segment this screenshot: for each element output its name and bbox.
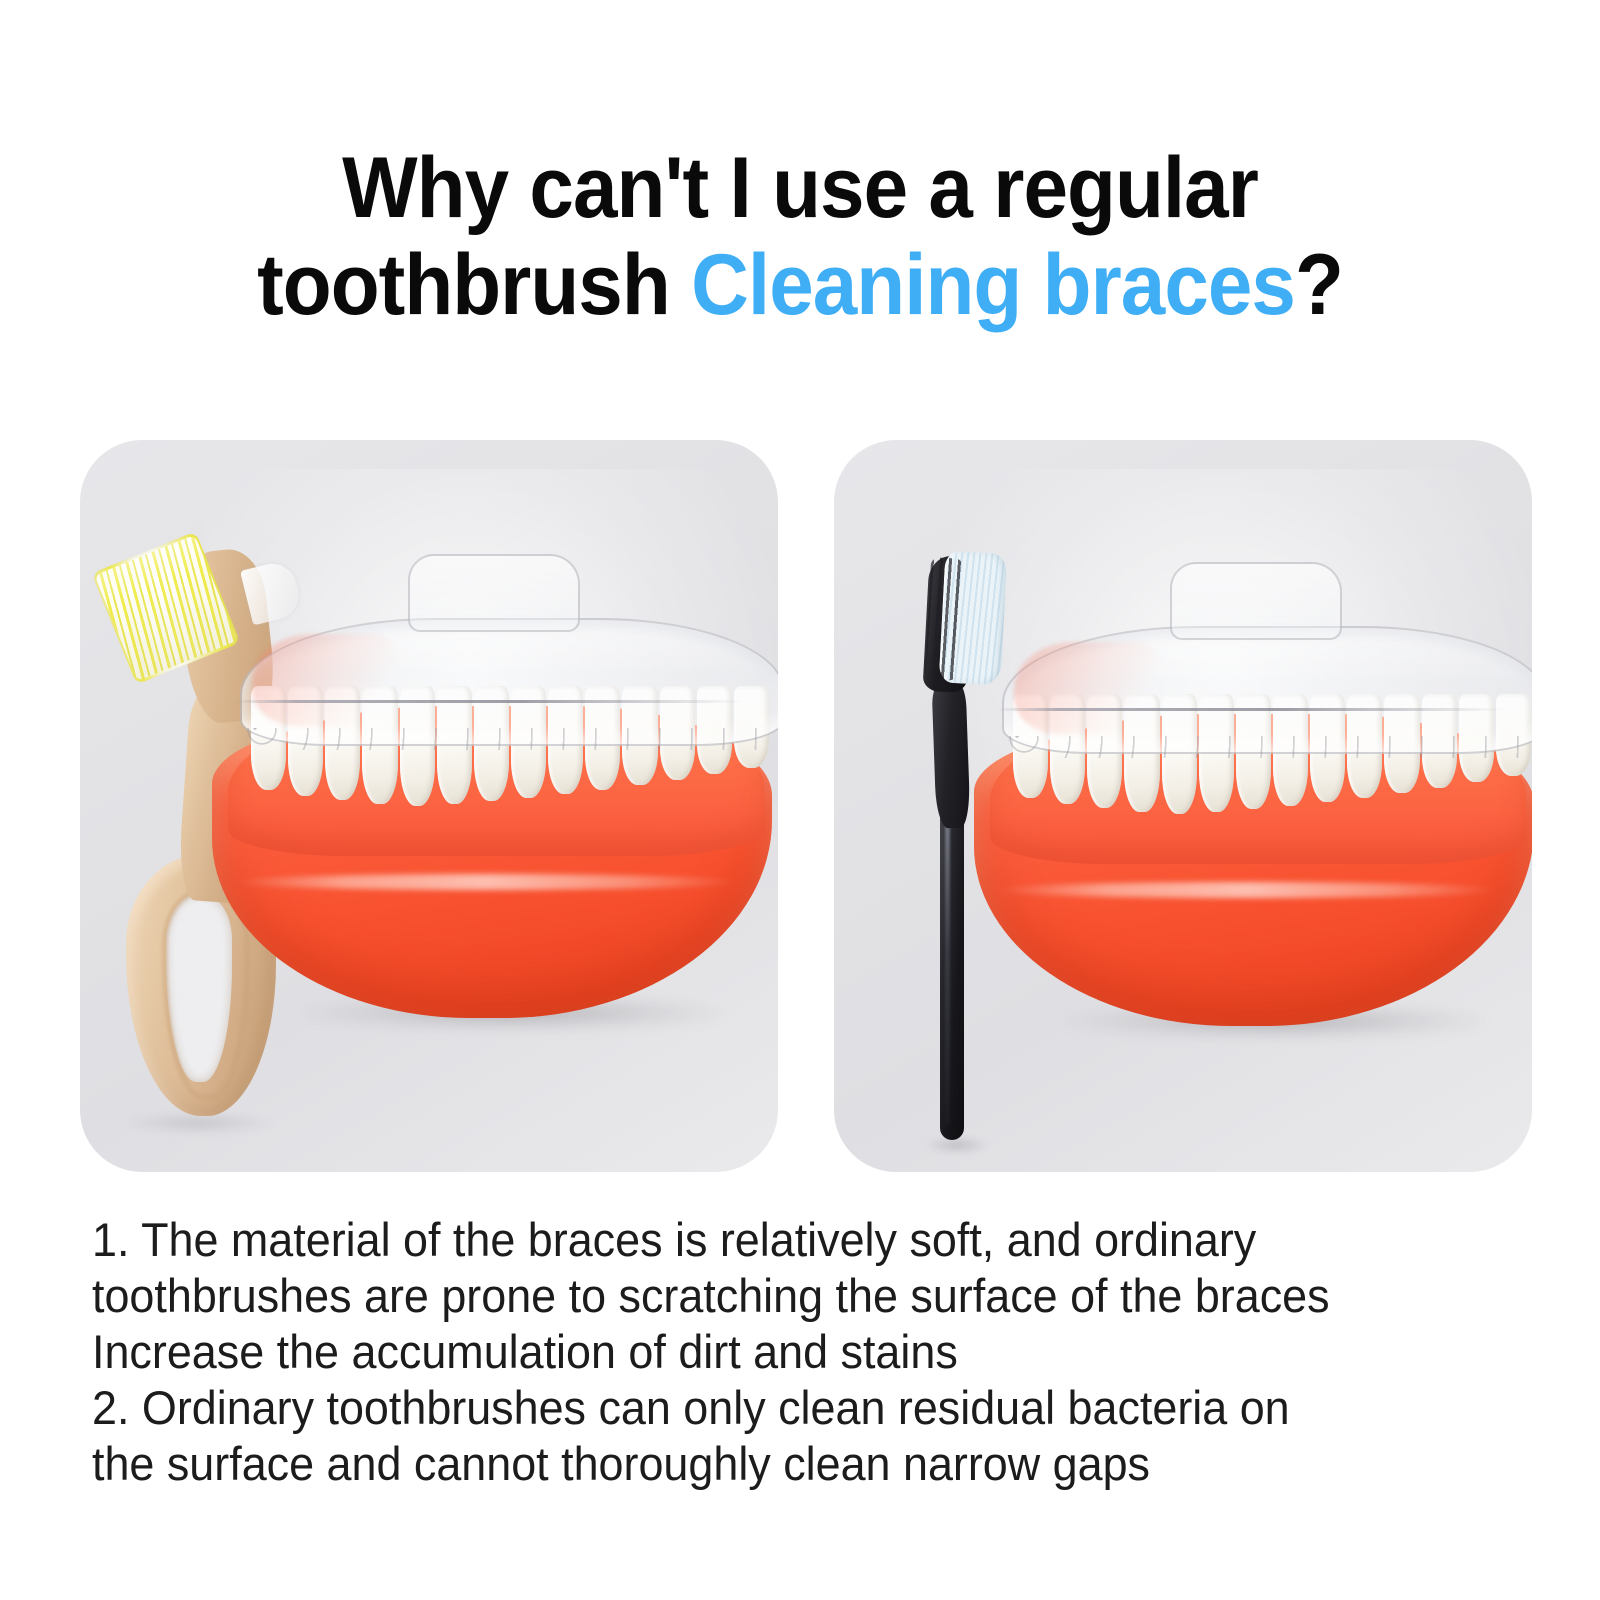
toothbrush-neck <box>931 677 970 828</box>
teeth-row <box>1012 694 1532 814</box>
description-line: toothbrushes are prone to scratching the… <box>92 1268 1448 1324</box>
tooth <box>474 686 509 801</box>
tooth <box>585 686 620 790</box>
tooth <box>1087 694 1122 808</box>
tooth <box>1422 694 1457 788</box>
title-accent-text: Cleaning braces <box>691 237 1295 333</box>
gum-ridge <box>990 714 1526 864</box>
aligner-molar-section <box>408 554 580 632</box>
tooth <box>1162 694 1197 814</box>
tooth <box>1347 694 1382 798</box>
tooth <box>325 686 360 800</box>
dental-model-shadow <box>1064 1004 1484 1038</box>
tooth <box>1310 694 1345 802</box>
toothbrush-handle <box>940 800 964 1140</box>
tooth <box>400 686 435 806</box>
tooth <box>1050 694 1085 804</box>
tooth <box>1459 694 1494 782</box>
description-line: the surface and cannot thoroughly clean … <box>92 1436 1448 1492</box>
gum-base <box>974 726 1532 1026</box>
aligner-wire <box>996 708 1516 711</box>
tooth <box>362 686 397 804</box>
aligner-scalloped-edge <box>246 728 778 750</box>
description-line: 1. The material of the braces is relativ… <box>92 1212 1448 1268</box>
description-line: 2. Ordinary toothbrushes can only clean … <box>92 1380 1448 1436</box>
gum-ridge <box>228 706 764 856</box>
description-text-block: 1. The material of the braces is relativ… <box>92 1212 1512 1492</box>
title-line-2: toothbrush Cleaning braces? <box>56 237 1544 334</box>
panel-glow <box>960 469 1532 996</box>
page-title: Why can't I use a regular toothbrush Cle… <box>0 140 1600 334</box>
tooth <box>1384 694 1419 793</box>
dental-model-right <box>974 596 1532 1036</box>
tooth <box>1273 694 1308 806</box>
regular-toothbrush-image <box>904 550 1034 1150</box>
teeth-row <box>250 686 770 806</box>
tooth <box>1496 694 1531 776</box>
tooth <box>660 686 695 780</box>
tooth <box>622 686 657 785</box>
title-line-2-suffix: ? <box>1295 237 1343 333</box>
clear-aligner <box>240 618 778 746</box>
toothbrush-bristle-rows <box>925 557 963 681</box>
aligner-tint <box>1014 642 1164 734</box>
tooth <box>1124 694 1159 812</box>
panel-denture-brush[interactable] <box>80 440 778 1172</box>
panel-regular-toothbrush[interactable] <box>834 440 1532 1172</box>
title-line-2-prefix: toothbrush <box>257 237 691 333</box>
aligner-molar-section <box>1170 562 1342 640</box>
title-line-1: Why can't I use a regular <box>56 140 1544 237</box>
description-line: Increase the accumulation of dirt and st… <box>92 1324 1448 1380</box>
aligner-wire <box>234 700 754 703</box>
tooth <box>1236 694 1271 809</box>
product-image-panels <box>80 440 1532 1172</box>
tooth <box>734 686 769 768</box>
tooth <box>1199 694 1234 812</box>
denture-brush-image <box>106 532 306 1122</box>
tooth <box>511 686 546 798</box>
clear-aligner <box>1002 626 1532 754</box>
tooth <box>548 686 583 794</box>
tooth <box>437 686 472 804</box>
aligner-scalloped-edge <box>1008 736 1532 758</box>
dental-model-shadow <box>302 996 722 1030</box>
tooth <box>697 686 732 774</box>
toothbrush-handle-highlight <box>945 806 950 1126</box>
